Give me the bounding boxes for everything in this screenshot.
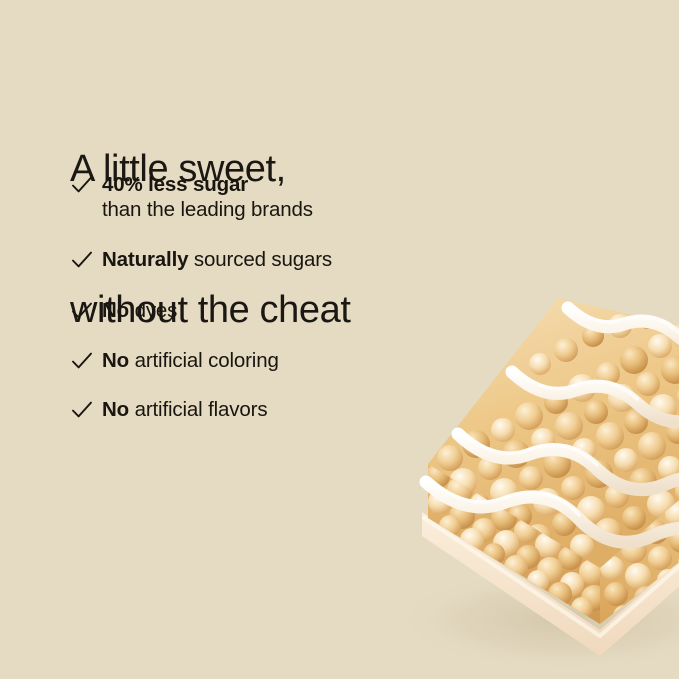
checkmark-icon xyxy=(70,299,102,323)
promo-canvas: A little sweet, without the cheat 40% le… xyxy=(0,0,679,679)
benefit-regular: sourced sugars xyxy=(188,248,332,271)
benefit-regular: dyes xyxy=(129,299,177,322)
benefit-text: 40% less sugar than the leading brands xyxy=(102,172,313,223)
checkmark-icon xyxy=(70,173,102,197)
benefit-strong: No xyxy=(102,349,129,372)
drizzle-stripe-3 xyxy=(458,434,679,490)
benefit-strong: No xyxy=(102,398,129,421)
benefit-subtext: than the leading brands xyxy=(102,197,313,223)
list-item: No artificial flavors xyxy=(70,397,490,422)
benefit-text: No artificial flavors xyxy=(102,397,267,422)
drizzle-stripe-1 xyxy=(568,308,679,360)
list-item: No dyes xyxy=(70,298,490,323)
list-item: 40% less sugar than the leading brands xyxy=(70,172,490,223)
benefit-strong: Naturally xyxy=(102,248,188,271)
benefit-strong: No xyxy=(102,299,129,322)
benefit-strong: 40% less sugar xyxy=(102,173,248,196)
benefit-regular: artificial flavors xyxy=(129,398,267,421)
benefit-regular: artificial coloring xyxy=(129,349,279,372)
checkmark-icon xyxy=(70,349,102,373)
benefits-list: 40% less sugar than the leading brands N… xyxy=(70,172,490,422)
drizzle-stripe-4 xyxy=(426,482,679,542)
benefit-text: No artificial coloring xyxy=(102,348,279,373)
bar-icing-base xyxy=(422,512,679,656)
benefit-text: No dyes xyxy=(102,298,177,323)
cereal-puffs-front-left xyxy=(426,464,607,619)
checkmark-icon xyxy=(70,248,102,272)
checkmark-icon xyxy=(70,398,102,422)
list-item: Naturally sourced sugars xyxy=(70,247,490,272)
list-item: No artificial coloring xyxy=(70,348,490,373)
cereal-puffs-front-right xyxy=(600,486,679,627)
drizzle-stripe-2 xyxy=(512,372,679,422)
benefit-text: Naturally sourced sugars xyxy=(102,247,332,272)
